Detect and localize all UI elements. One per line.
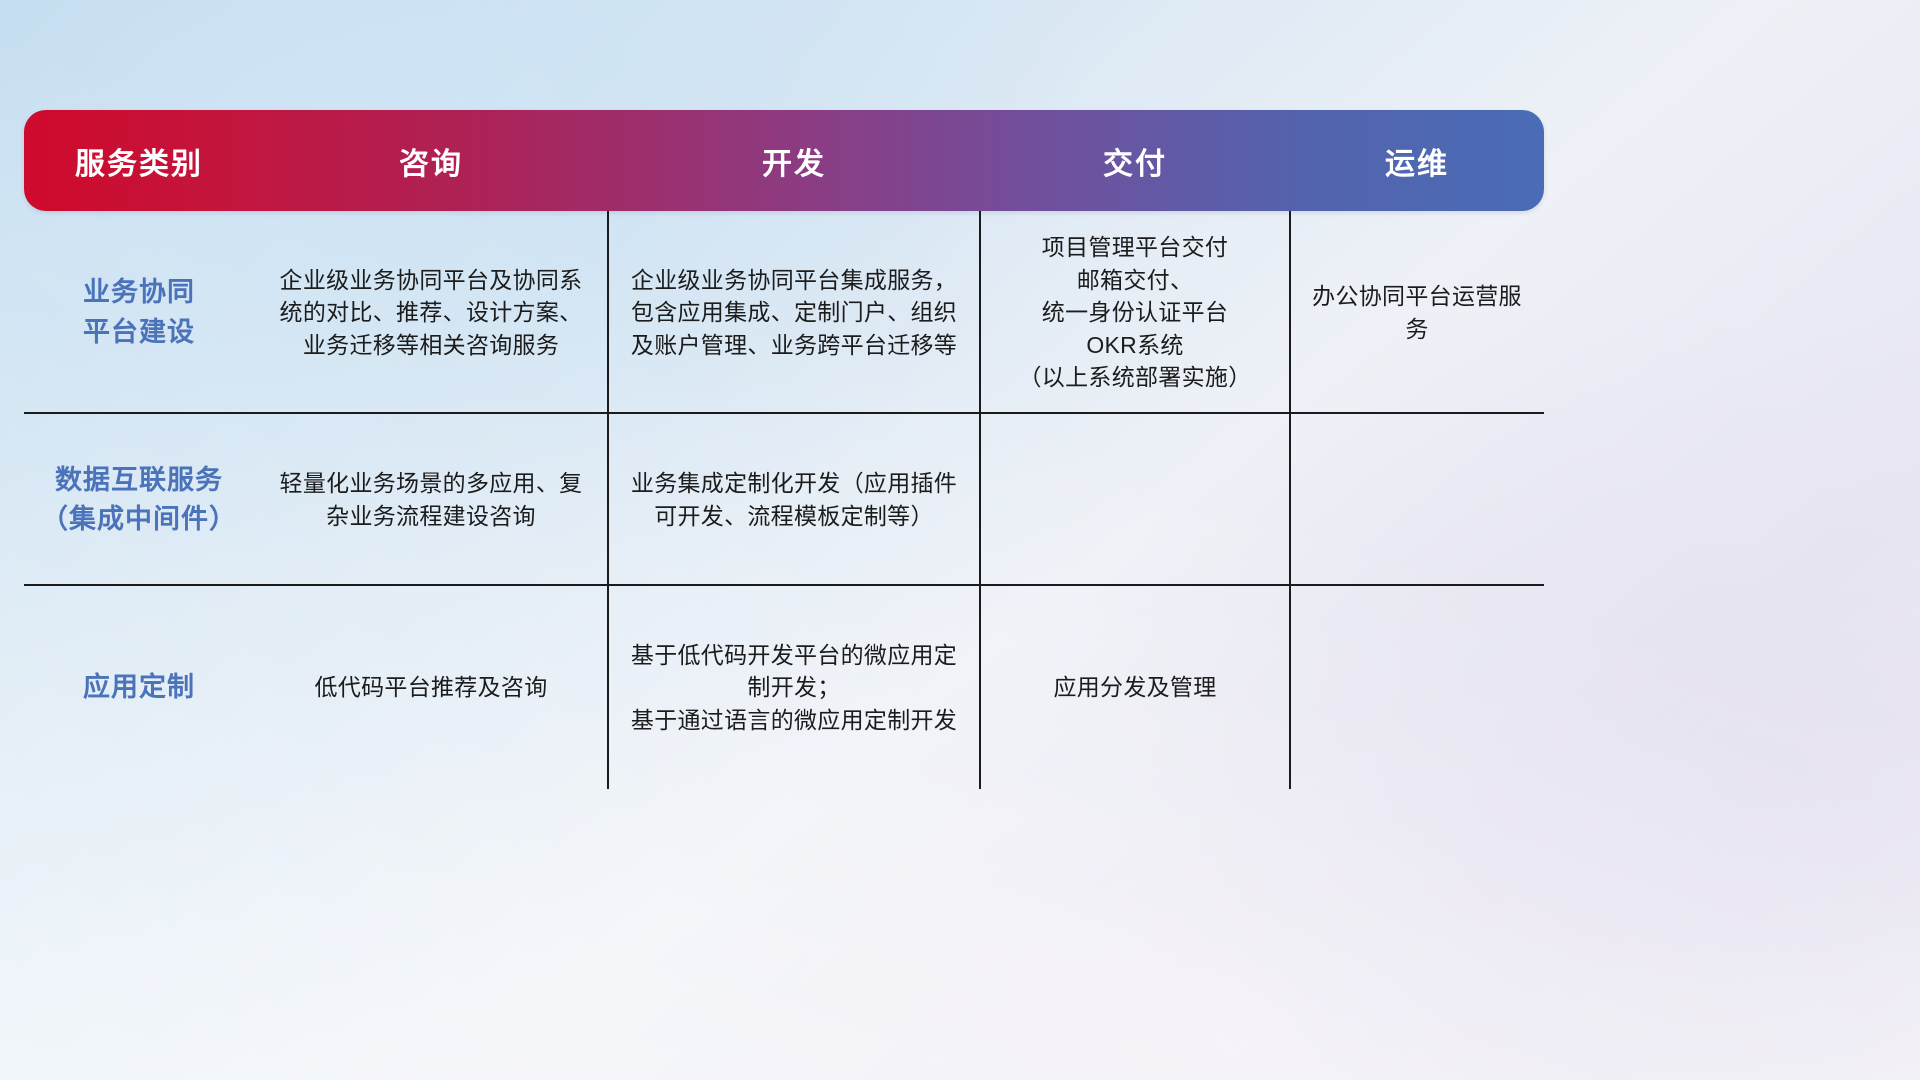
cell-operations bbox=[1290, 414, 1544, 586]
cell-category: 业务协同 平台建设 bbox=[24, 211, 254, 414]
cell-consulting: 低代码平台推荐及咨询 bbox=[254, 586, 608, 789]
cell-delivery: 项目管理平台交付 邮箱交付、 统一身份认证平台 OKR系统 （以上系统部署实施） bbox=[980, 211, 1290, 414]
table-body: 业务协同 平台建设 企业级业务协同平台及协同系 统的对比、推荐、设计方案、 业务… bbox=[24, 211, 1544, 789]
cell-operations bbox=[1290, 586, 1544, 789]
cell-development: 企业级业务协同平台集成服务， 包含应用集成、定制门户、组织 及账户管理、业务跨平… bbox=[608, 211, 980, 414]
table-row: 数据互联服务 （集成中间件） 轻量化业务场景的多应用、复 杂业务流程建设咨询 业… bbox=[24, 414, 1544, 586]
cell-delivery: 应用分发及管理 bbox=[980, 586, 1290, 789]
column-header-operations: 运维 bbox=[1290, 139, 1544, 183]
service-category-table: 服务类别 咨询 开发 交付 运维 业务协同 平台建设 企业级业务协同平台及协同系… bbox=[24, 110, 1544, 790]
cell-operations: 办公协同平台运营服务 bbox=[1290, 211, 1544, 414]
cell-development: 业务集成定制化开发（应用插件 可开发、流程模板定制等） bbox=[608, 414, 980, 586]
cell-consulting: 企业级业务协同平台及协同系 统的对比、推荐、设计方案、 业务迁移等相关咨询服务 bbox=[254, 211, 608, 414]
table-row: 业务协同 平台建设 企业级业务协同平台及协同系 统的对比、推荐、设计方案、 业务… bbox=[24, 211, 1544, 414]
column-header-development: 开发 bbox=[608, 139, 980, 183]
cell-development: 基于低代码开发平台的微应用定 制开发； 基于通过语言的微应用定制开发 bbox=[608, 586, 980, 789]
column-header-category: 服务类别 bbox=[24, 139, 254, 183]
column-header-consulting: 咨询 bbox=[254, 139, 608, 183]
cell-category: 应用定制 bbox=[24, 586, 254, 789]
cell-consulting: 轻量化业务场景的多应用、复 杂业务流程建设咨询 bbox=[254, 414, 608, 586]
cell-category: 数据互联服务 （集成中间件） bbox=[24, 414, 254, 586]
table-row: 应用定制 低代码平台推荐及咨询 基于低代码开发平台的微应用定 制开发； 基于通过… bbox=[24, 586, 1544, 789]
cell-delivery bbox=[980, 414, 1290, 586]
column-header-delivery: 交付 bbox=[980, 139, 1290, 183]
table-header-row: 服务类别 咨询 开发 交付 运维 bbox=[24, 110, 1544, 211]
